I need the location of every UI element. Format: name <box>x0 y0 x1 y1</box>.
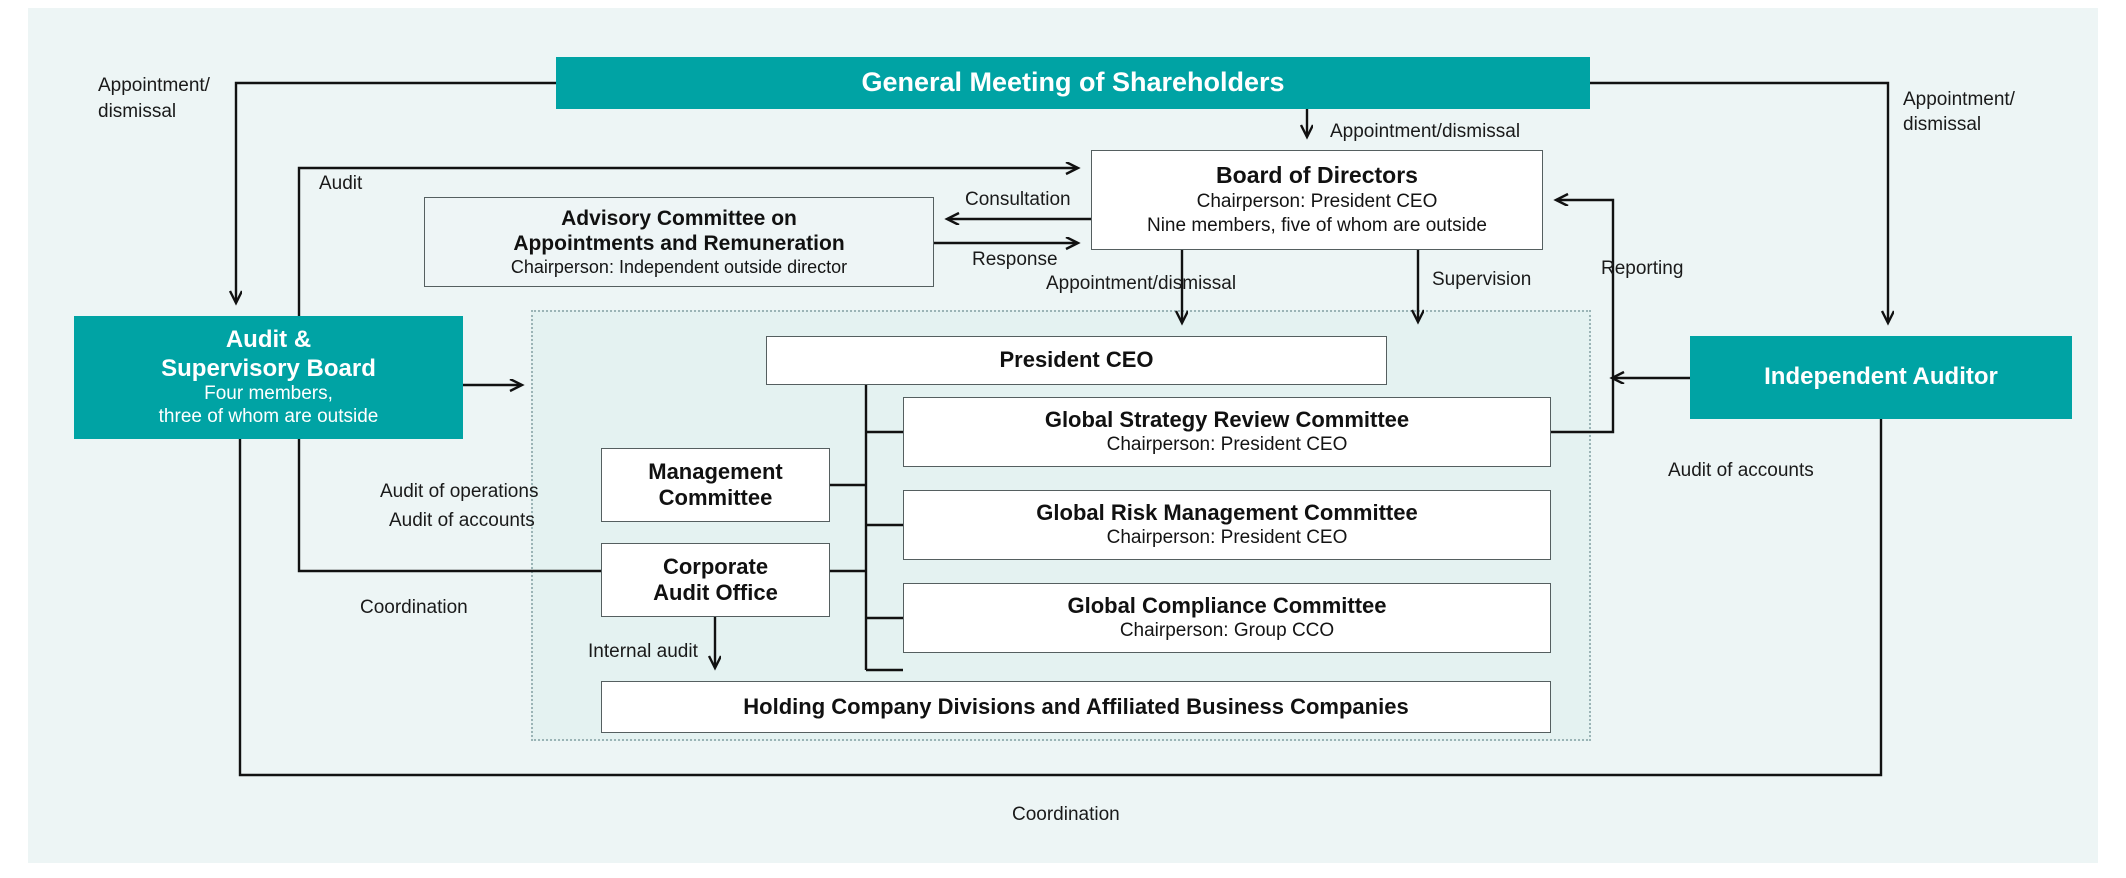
label-audit: Audit <box>319 172 362 195</box>
grmc-title: Global Risk Management Committee <box>1036 500 1417 526</box>
node-corporate-audit-office: Corporate Audit Office <box>601 543 830 617</box>
label-appointment-dismissal-right-line2: dismissal <box>1903 113 1981 136</box>
management-committee-line1: Management <box>648 459 782 485</box>
node-board-of-directors: Board of Directors Chairperson: Presiden… <box>1091 150 1543 250</box>
grmc-chairperson: Chairperson: President CEO <box>1107 526 1348 550</box>
advisory-committee-title-line2: Appointments and Remuneration <box>513 231 844 256</box>
audit-board-members-line2: three of whom are outside <box>159 406 379 429</box>
board-of-directors-title: Board of Directors <box>1216 162 1418 190</box>
label-appointment-dismissal-left-line2: dismissal <box>98 100 176 123</box>
node-global-compliance-committee: Global Compliance Committee Chairperson:… <box>903 583 1551 653</box>
audit-board-title-line1: Audit & <box>226 326 311 354</box>
audit-board-title-line2: Supervisory Board <box>161 355 376 383</box>
node-management-committee: Management Committee <box>601 448 830 522</box>
node-general-meeting-of-shareholders: General Meeting of Shareholders <box>556 57 1590 109</box>
management-committee-line2: Committee <box>659 485 773 511</box>
general-meeting-title: General Meeting of Shareholders <box>861 67 1284 99</box>
gsrc-chairperson: Chairperson: President CEO <box>1107 433 1348 457</box>
audit-board-members-line1: Four members, <box>204 383 333 406</box>
node-independent-auditor: Independent Auditor <box>1690 336 2072 419</box>
label-audit-of-accounts-right: Audit of accounts <box>1668 459 1814 482</box>
label-coordination-mid: Coordination <box>360 596 468 619</box>
advisory-committee-title-line1: Advisory Committee on <box>561 206 797 231</box>
label-audit-of-operations: Audit of operations <box>380 480 538 503</box>
president-ceo-title: President CEO <box>999 347 1153 373</box>
governance-diagram: General Meeting of Shareholders Board of… <box>0 0 2126 878</box>
corporate-audit-office-line1: Corporate <box>663 554 768 580</box>
gsrc-title: Global Strategy Review Committee <box>1045 407 1409 433</box>
node-global-strategy-review-committee: Global Strategy Review Committee Chairpe… <box>903 397 1551 467</box>
node-global-risk-management-committee: Global Risk Management Committee Chairpe… <box>903 490 1551 560</box>
label-response: Response <box>972 248 1058 271</box>
label-supervision: Supervision <box>1432 268 1531 291</box>
gcc-chairperson: Chairperson: Group CCO <box>1120 619 1334 643</box>
independent-auditor-title: Independent Auditor <box>1764 363 1998 391</box>
gcc-title: Global Compliance Committee <box>1067 593 1386 619</box>
holding-company-title: Holding Company Divisions and Affiliated… <box>743 694 1408 720</box>
corporate-audit-office-line2: Audit Office <box>653 580 778 606</box>
node-holding-company-divisions: Holding Company Divisions and Affiliated… <box>601 681 1551 733</box>
label-reporting: Reporting <box>1601 257 1683 280</box>
node-president-ceo: President CEO <box>766 336 1387 385</box>
label-appointment-dismissal-board: Appointment/dismissal <box>1330 120 1520 143</box>
label-consultation: Consultation <box>965 188 1071 211</box>
label-internal-audit: Internal audit <box>588 640 698 663</box>
label-coordination-bottom: Coordination <box>1012 803 1120 826</box>
node-advisory-committee: Advisory Committee on Appointments and R… <box>424 197 934 287</box>
label-audit-of-accounts-left: Audit of accounts <box>389 509 535 532</box>
label-appointment-dismissal-left-line1: Appointment/ <box>98 74 210 97</box>
board-of-directors-chairperson: Chairperson: President CEO <box>1197 190 1438 214</box>
node-audit-supervisory-board: Audit & Supervisory Board Four members, … <box>74 316 463 439</box>
label-appointment-dismissal-right-line1: Appointment/ <box>1903 88 2015 111</box>
board-of-directors-members: Nine members, five of whom are outside <box>1147 214 1487 238</box>
advisory-committee-chairperson: Chairperson: Independent outside directo… <box>511 256 847 279</box>
label-appointment-dismissal-ceo: Appointment/dismissal <box>1046 272 1236 295</box>
